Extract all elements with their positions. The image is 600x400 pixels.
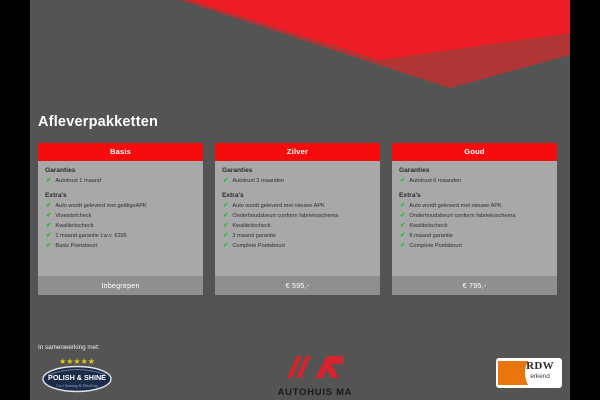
guarantees-heading: Garanties: [222, 167, 374, 174]
package-card-basis[interactable]: Basis Garanties ✔ Autotrust 1 maand Extr…: [38, 143, 203, 295]
extras-list: ✔Auto wordt geleverd met nieuwe APK ✔Ond…: [398, 202, 551, 251]
check-icon: ✔: [223, 202, 228, 211]
list-item: ✔Auto wordt geleverd met geldigeAPK: [44, 202, 197, 211]
list-item-label: Auto wordt geleverd met nieuwe APK: [409, 202, 501, 211]
list-item: ✔Vloeistofcheck: [44, 212, 197, 221]
package-price-goud: € 795,-: [392, 276, 557, 296]
rdw-erkend-badge: RDW erkend: [496, 358, 562, 388]
package-card-zilver[interactable]: Zilver Garanties ✔ Autotrust 3 maanden E…: [215, 143, 380, 295]
check-icon: ✔: [400, 177, 405, 186]
check-icon: ✔: [46, 177, 51, 186]
list-item: ✔ Autotrust 3 maanden: [221, 177, 374, 186]
list-item-label: 3 maand garantie: [232, 232, 276, 241]
list-item-label: Complete Poetsbeurt: [232, 242, 285, 251]
list-item-label: Autotrust 3 maanden: [232, 177, 284, 186]
check-icon: ✔: [400, 202, 405, 211]
list-item: ✔1 maand garantie t.w.v. €295: [44, 232, 197, 241]
page-title: Afleverpakketten: [38, 114, 158, 130]
list-item: ✔Basis Poetsbeurt: [44, 242, 197, 251]
extras-heading: Extra's: [399, 192, 551, 199]
list-item: ✔Onderhoudsbeurt conform fabrieksschema: [221, 212, 374, 221]
guarantees-list: ✔ Autotrust 6 maanden: [398, 177, 551, 186]
package-card-goud[interactable]: Goud Garanties ✔ Autotrust 6 maanden Ext…: [392, 143, 557, 295]
polish-and-shine-logo: ★★★★★ POLISH & SHINE Car Cleaning & Deta…: [38, 355, 116, 393]
extras-list: ✔Auto wordt geleverd met nieuwe APK ✔Ond…: [221, 202, 374, 251]
list-item: ✔Auto wordt geleverd met nieuwe APK: [221, 202, 374, 211]
list-item-label: Onderhoudsbeurt conform fabrieksschema: [409, 212, 515, 221]
list-item-label: Basis Poetsbeurt: [55, 242, 97, 251]
svg-text:POLISH & SHINE: POLISH & SHINE: [48, 373, 106, 382]
check-icon: ✔: [46, 232, 51, 241]
check-icon: ✔: [400, 212, 405, 221]
check-icon: ✔: [46, 212, 51, 221]
ma-mark-icon: [265, 350, 365, 380]
check-icon: ✔: [46, 242, 51, 251]
list-item: ✔Kwaliteitscheck: [221, 222, 374, 231]
list-item: ✔Complete Poetsbeurt: [398, 242, 551, 251]
list-item: ✔6 maand garantie: [398, 232, 551, 241]
check-icon: ✔: [223, 177, 228, 186]
package-price-basis: Inbegrepen: [38, 276, 203, 296]
guarantees-heading: Garanties: [45, 167, 197, 174]
list-item: ✔3 maand garantie: [221, 232, 374, 241]
list-item-label: Kwaliteitscheck: [409, 222, 447, 231]
package-body-zilver: Garanties ✔ Autotrust 3 maanden Extra's …: [215, 161, 380, 276]
check-icon: ✔: [46, 202, 51, 211]
extras-heading: Extra's: [222, 192, 374, 199]
slide-canvas: Afleverpakketten Basis Garanties ✔ Autot…: [30, 0, 570, 400]
list-item-label: Kwaliteitscheck: [55, 222, 93, 231]
package-body-goud: Garanties ✔ Autotrust 6 maanden Extra's …: [392, 161, 557, 276]
diagonal-banner-decoration: [30, 0, 570, 90]
list-item: ✔ Autotrust 1 maand: [44, 177, 197, 186]
extras-list: ✔Auto wordt geleverd met geldigeAPK ✔Vlo…: [44, 202, 197, 251]
rdw-title: RDW: [523, 361, 557, 372]
list-item-label: Vloeistofcheck: [55, 212, 91, 221]
check-icon: ✔: [400, 222, 405, 231]
package-price-zilver: € 595,-: [215, 276, 380, 296]
check-icon: ✔: [223, 242, 228, 251]
list-item-label: 1 maand garantie t.w.v. €295: [55, 232, 126, 241]
list-item-label: Auto wordt geleverd met geldigeAPK: [55, 202, 146, 211]
dealer-name: AUTOHUIS MA: [265, 386, 365, 397]
svg-text:★★★★★: ★★★★★: [59, 357, 95, 366]
list-item-label: Autotrust 1 maand: [55, 177, 101, 186]
partner-label: In samenwerking met:: [38, 344, 100, 351]
list-item-label: Autotrust 6 maanden: [409, 177, 461, 186]
list-item: ✔Kwaliteitscheck: [398, 222, 551, 231]
list-item-label: 6 maand garantie: [409, 232, 453, 241]
list-item: ✔ Autotrust 6 maanden: [398, 177, 551, 186]
guarantees-heading: Garanties: [399, 167, 551, 174]
guarantees-list: ✔ Autotrust 1 maand: [44, 177, 197, 186]
package-title-basis: Basis: [38, 143, 203, 161]
list-item: ✔Kwaliteitscheck: [44, 222, 197, 231]
package-card-list: Basis Garanties ✔ Autotrust 1 maand Extr…: [38, 143, 566, 295]
list-item: ✔Onderhoudsbeurt conform fabrieksschema: [398, 212, 551, 221]
rdw-subtitle: erkend: [523, 374, 557, 380]
autohuis-ma-logo: AUTOHUIS MA: [265, 350, 365, 394]
check-icon: ✔: [400, 232, 405, 241]
list-item: ✔Complete Poetsbeurt: [221, 242, 374, 251]
package-body-basis: Garanties ✔ Autotrust 1 maand Extra's ✔A…: [38, 161, 203, 276]
check-icon: ✔: [400, 242, 405, 251]
list-item: ✔Auto wordt geleverd met nieuwe APK: [398, 202, 551, 211]
svg-text:Car Cleaning & Detailing: Car Cleaning & Detailing: [56, 383, 97, 388]
check-icon: ✔: [46, 222, 51, 231]
extras-heading: Extra's: [45, 192, 197, 199]
list-item-label: Auto wordt geleverd met nieuwe APK: [232, 202, 324, 211]
package-title-zilver: Zilver: [215, 143, 380, 161]
rdw-text-block: RDW erkend: [523, 361, 557, 380]
guarantees-list: ✔ Autotrust 3 maanden: [221, 177, 374, 186]
list-item-label: Onderhoudsbeurt conform fabrieksschema: [232, 212, 338, 221]
list-item-label: Complete Poetsbeurt: [409, 242, 462, 251]
check-icon: ✔: [223, 232, 228, 241]
check-icon: ✔: [223, 212, 228, 221]
check-icon: ✔: [223, 222, 228, 231]
package-title-goud: Goud: [392, 143, 557, 161]
list-item-label: Kwaliteitscheck: [232, 222, 270, 231]
